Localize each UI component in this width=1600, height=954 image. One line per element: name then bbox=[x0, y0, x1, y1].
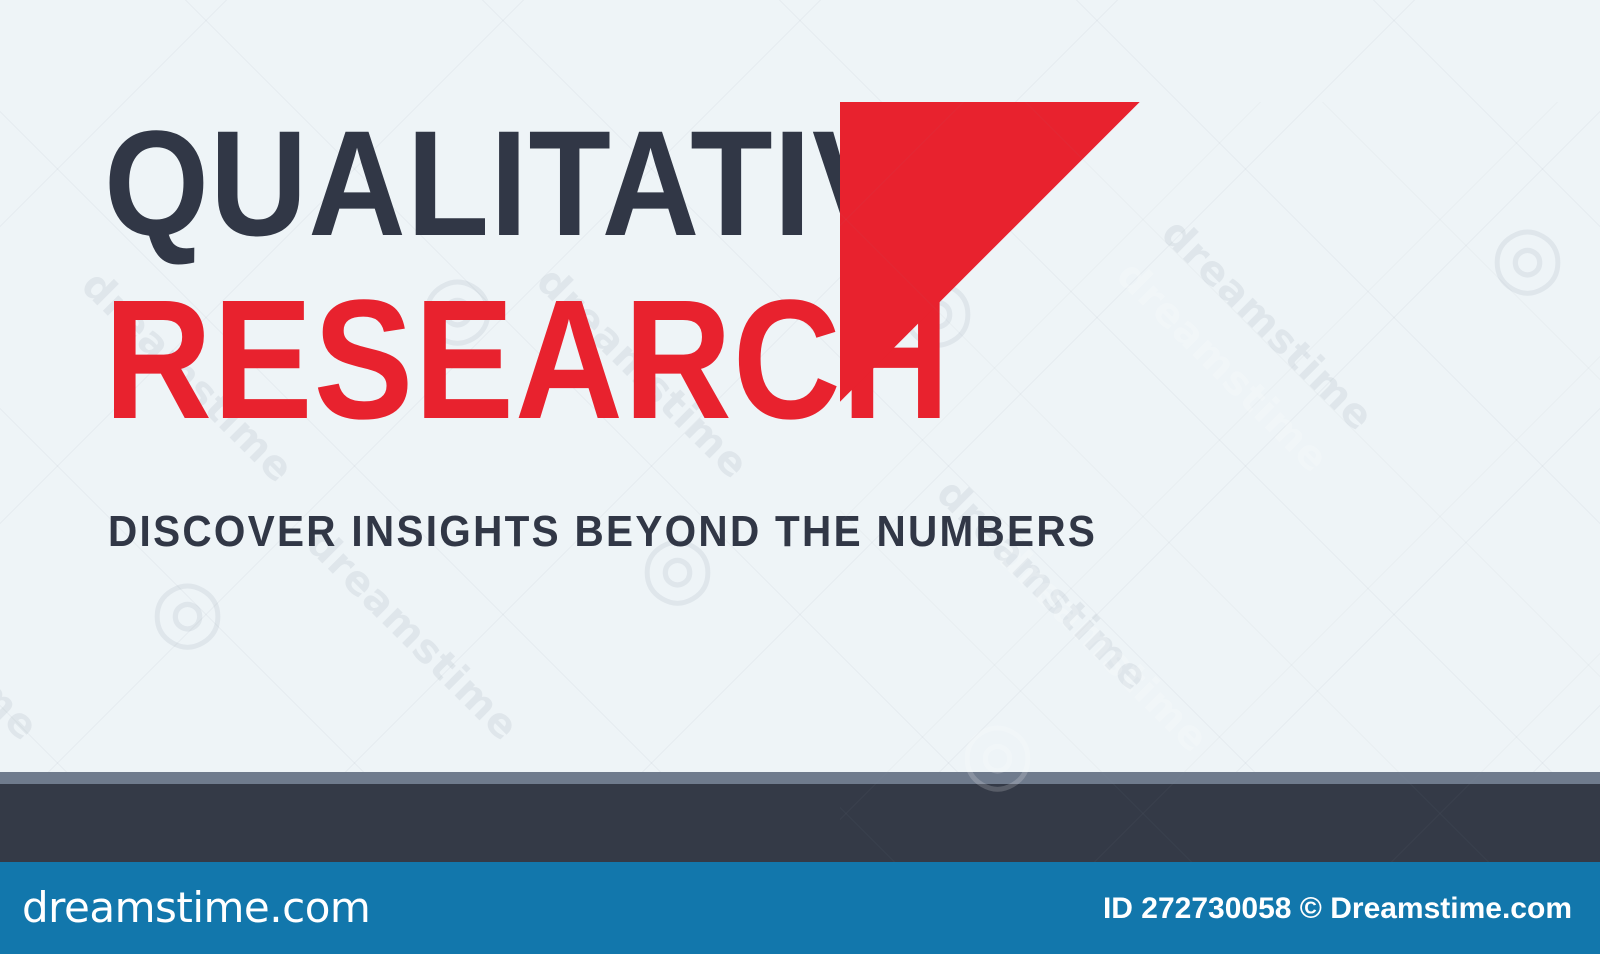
image-id-label: ID 272730058 © Dreamstime.com bbox=[1103, 892, 1572, 926]
artwork-area: dreamstime ◎ dreamstime ◎ dreamstime ◎ d… bbox=[0, 0, 1600, 862]
stripe-red-inner bbox=[840, 102, 1600, 837]
watermark-spiral-icon: ◎ bbox=[150, 560, 225, 660]
watermark-word: dreamstime bbox=[0, 520, 48, 750]
footer-bar: dreamstime.com ID 272730058 © Dreamstime… bbox=[0, 862, 1600, 954]
watermark-spiral-icon: ◎ bbox=[960, 702, 1035, 802]
dreamstime-logo: dreamstime.com bbox=[22, 884, 370, 932]
poster-canvas: dreamstime ◎ dreamstime ◎ dreamstime ◎ d… bbox=[0, 0, 1600, 954]
corner-diagonal-stripes: dreamstime dreamstime ◎ bbox=[840, 102, 1600, 862]
watermark-word: dreamstime bbox=[1107, 252, 1337, 482]
watermark-word: dreamstime bbox=[987, 532, 1217, 762]
